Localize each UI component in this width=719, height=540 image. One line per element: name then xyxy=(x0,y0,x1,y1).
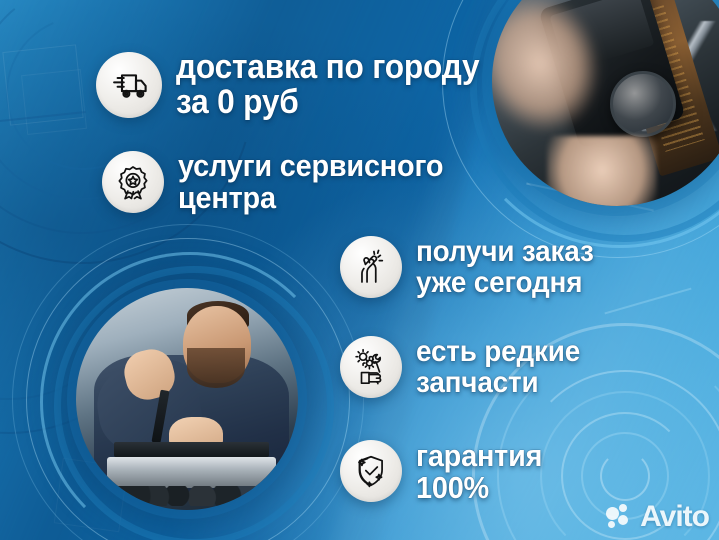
hand-gears-wrench-icon xyxy=(340,336,402,398)
photo-phone-magnifier xyxy=(610,71,676,137)
photo-phone-repair xyxy=(492,0,719,206)
decorative-tech-square-2 xyxy=(21,69,87,135)
avito-watermark: Avito xyxy=(606,502,709,532)
feature-delivery-text: доставка по городу за 0 руб xyxy=(176,48,479,121)
feature-service-center-text: услуги сервисного центра xyxy=(178,148,443,214)
feature-delivery: доставка по городу за 0 руб xyxy=(96,48,502,121)
feature-service-center: услуги сервисного центра xyxy=(102,148,463,214)
delivery-truck-icon xyxy=(96,52,162,118)
feature-order-today: получи заказ уже сегодня xyxy=(340,234,607,298)
ad-banner: доставка по городу за 0 руб услуги серви… xyxy=(0,0,719,540)
avito-dots-logo xyxy=(606,504,634,530)
feature-rare-parts: есть редкие запчасти xyxy=(340,334,592,398)
award-badge-icon xyxy=(102,151,164,213)
feature-warranty-text: гарантия 100% xyxy=(416,438,542,504)
photo-phone-hand-lower xyxy=(547,136,657,206)
shield-check-icon xyxy=(340,440,402,502)
photo-tech-beard xyxy=(187,348,245,388)
photo-tech-laptop xyxy=(107,457,276,488)
feature-warranty: гарантия 100% xyxy=(340,438,552,504)
photo-tech-parts xyxy=(112,486,267,506)
feature-order-today-text: получи заказ уже сегодня xyxy=(416,234,594,298)
avito-watermark-text: Avito xyxy=(640,502,709,532)
snapping-fingers-icon xyxy=(340,236,402,298)
feature-rare-parts-text: есть редкие запчасти xyxy=(416,334,580,398)
photo-laptop-technician xyxy=(76,288,298,510)
